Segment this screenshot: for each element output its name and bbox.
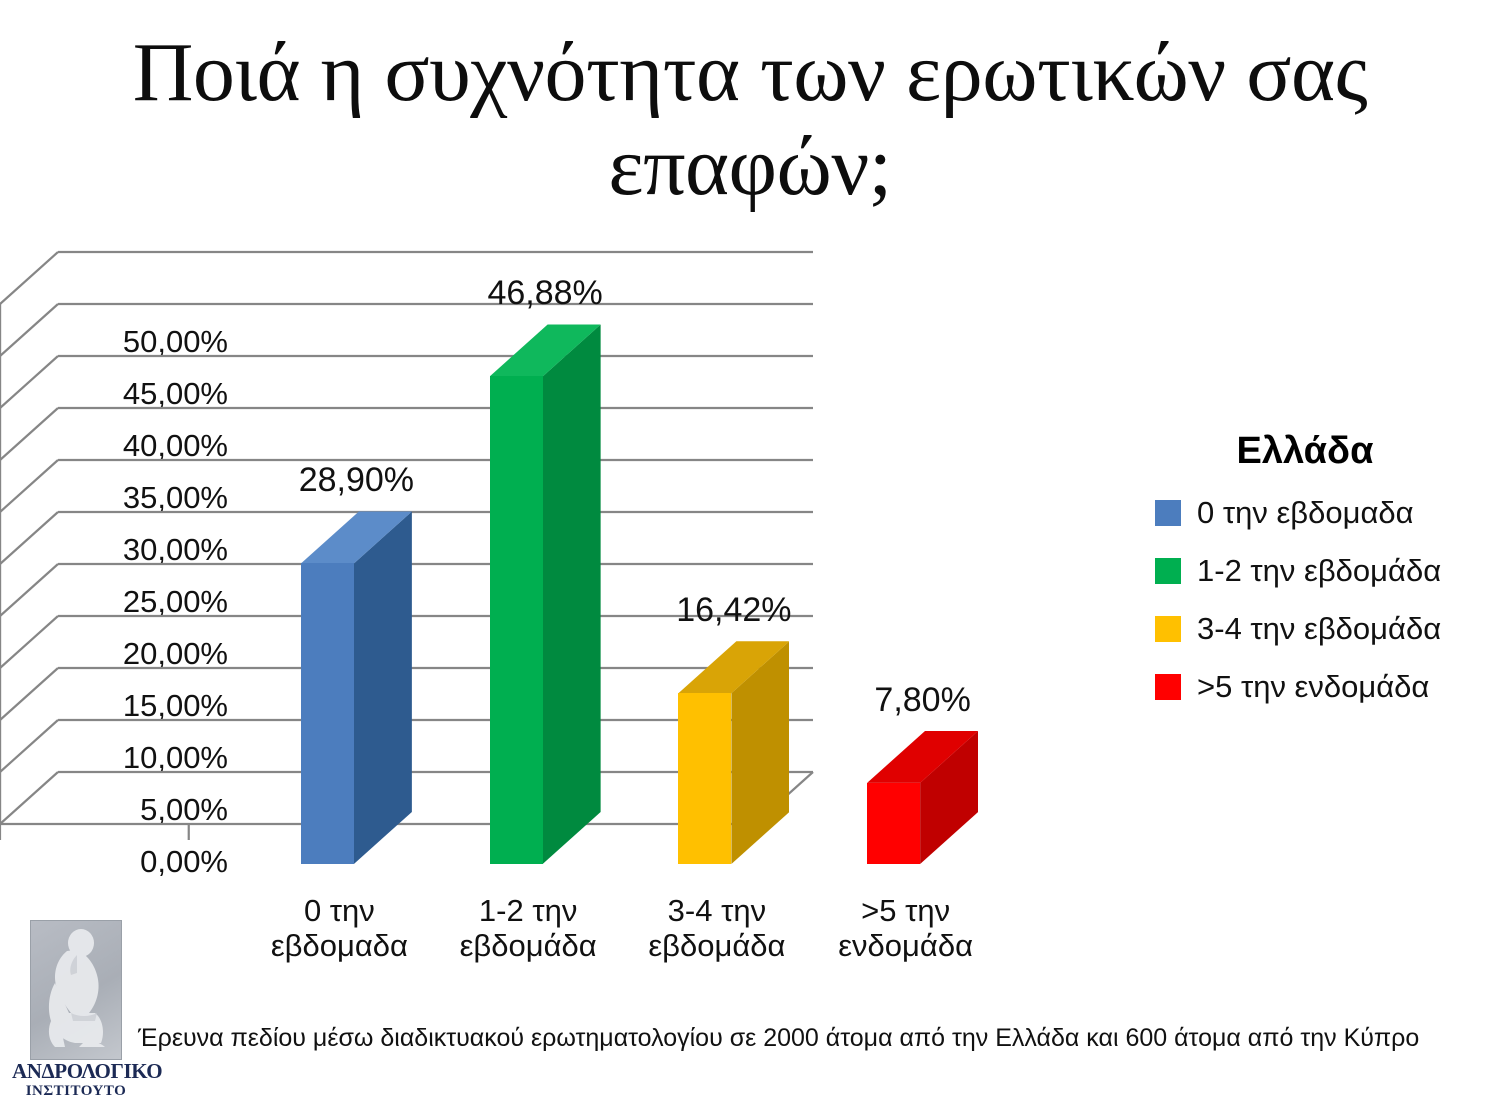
footnote-text: Έρευνα πεδίου μέσω διαδικτυακού ερωτηματ… [138, 1022, 1448, 1055]
bar-side-face [543, 324, 601, 864]
plot-area-3d-walls [0, 210, 1255, 910]
legend-item-label: 3-4 την εβδομάδα [1197, 611, 1441, 647]
slide-canvas: Ποιά η συχνότητα των ερωτικών σας επαφών… [0, 0, 1500, 1112]
x-axis-category-label-line: >5 την [806, 894, 1006, 929]
legend-item-2[interactable]: 1-2 την εβδομάδα [1155, 553, 1485, 589]
thinker-statue-icon [30, 920, 122, 1060]
x-axis-category-label: >5 τηνενδομάδα [806, 894, 1006, 963]
legend-item-label: 1-2 την εβδομάδα [1197, 553, 1441, 589]
x-axis-category-label-line: εβδομάδα [617, 929, 817, 964]
legend-items: 0 την εβδομαδα1-2 την εβδομάδα3-4 την εβ… [1155, 495, 1485, 705]
bar-3 [678, 641, 789, 864]
legend-item-3[interactable]: 3-4 την εβδομάδα [1155, 611, 1485, 647]
bar-2 [490, 324, 601, 864]
x-axis-category-label-line: εβδομαδα [239, 929, 439, 964]
x-axis-category-label-line: 1-2 την [428, 894, 628, 929]
data-label: 46,88% [435, 274, 655, 313]
data-label: 16,42% [624, 591, 844, 630]
logo-text-line1: ΑΝΔΡΟΛΟΓΙΚΟ [12, 1059, 140, 1084]
x-axis-category-label: 0 τηνεβδομαδα [239, 894, 439, 963]
bar-1 [301, 511, 412, 864]
data-label: 7,80% [813, 681, 1033, 720]
legend-item-4[interactable]: >5 την ενδομάδα [1155, 669, 1485, 705]
bar-side-face [354, 511, 412, 864]
page-title: Ποιά η συχνότητα των ερωτικών σας επαφών… [90, 26, 1410, 214]
chart-legend: Ελλάδα 0 την εβδομαδα1-2 την εβδομάδα3-4… [1155, 430, 1485, 727]
legend-color-swatch [1155, 500, 1181, 526]
x-axis-category-label: 1-2 τηνεβδομάδα [428, 894, 628, 963]
x-axis-category-label-line: 0 την [239, 894, 439, 929]
bar-4 [867, 731, 978, 864]
bar-front-face [301, 563, 354, 864]
thinker-statue-glyph [31, 921, 121, 1059]
legend-item-1[interactable]: 0 την εβδομαδα [1155, 495, 1485, 531]
x-axis-category-label-line: 3-4 την [617, 894, 817, 929]
legend-item-label: >5 την ενδομάδα [1197, 669, 1429, 705]
bar-front-face [490, 376, 543, 864]
x-axis-category-label: 3-4 τηνεβδομάδα [617, 894, 817, 963]
legend-item-label: 0 την εβδομαδα [1197, 495, 1414, 531]
legend-color-swatch [1155, 616, 1181, 642]
logo-text-line2: ΙΝΣΤΙΤΟΥΤΟ [12, 1083, 140, 1100]
bar-front-face [867, 783, 920, 864]
x-axis-category-label-line: ενδομάδα [806, 929, 1006, 964]
data-label: 28,90% [246, 461, 466, 500]
legend-color-swatch [1155, 674, 1181, 700]
legend-title: Ελλάδα [1155, 430, 1455, 473]
bar-front-face [678, 693, 731, 864]
legend-color-swatch [1155, 558, 1181, 584]
x-axis-category-label-line: εβδομάδα [428, 929, 628, 964]
organization-logo: ΑΝΔΡΟΛΟΓΙΚΟ ΙΝΣΤΙΤΟΥΤΟ [12, 920, 140, 1105]
